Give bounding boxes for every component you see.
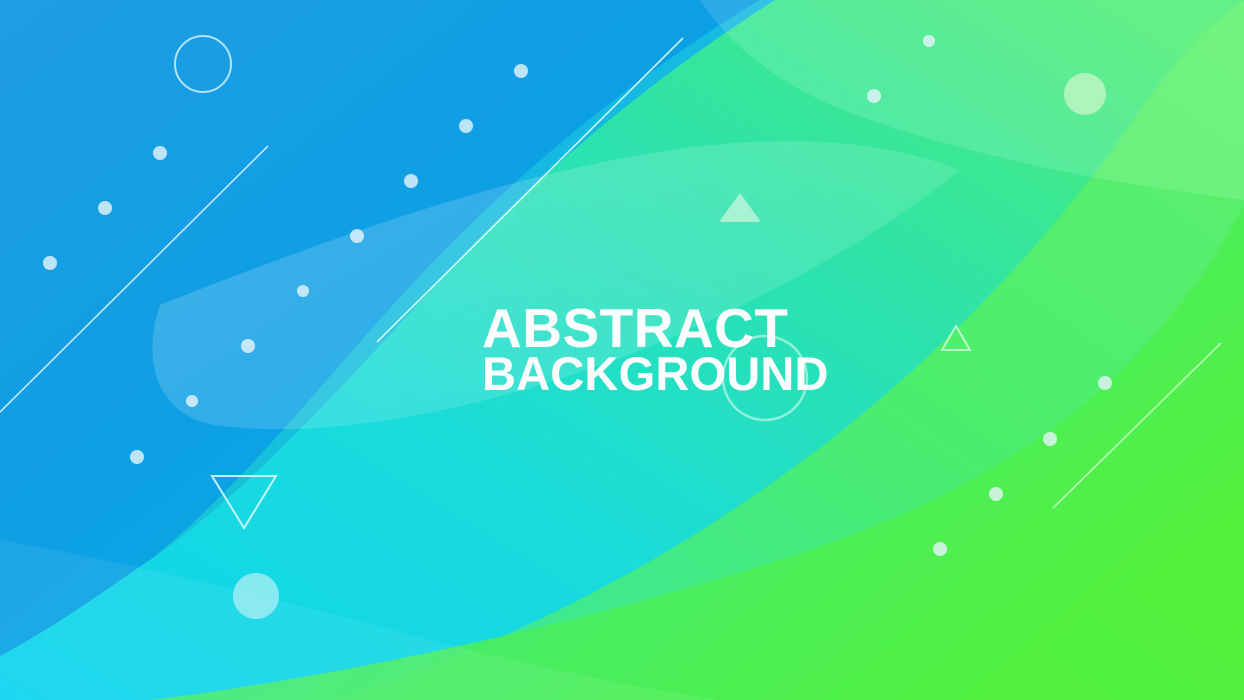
background-artwork: [0, 0, 1244, 700]
circle-filled-icon: [233, 573, 279, 619]
abstract-background-canvas: ABSTRACT BACKGROUND: [0, 0, 1244, 700]
dot: [1098, 376, 1112, 390]
dot: [350, 229, 364, 243]
dot: [933, 542, 947, 556]
dot: [404, 174, 418, 188]
dot: [867, 89, 881, 103]
dot: [514, 64, 528, 78]
dot: [153, 146, 167, 160]
dot: [186, 395, 198, 407]
dot: [923, 35, 935, 47]
dot: [1043, 432, 1057, 446]
dot: [130, 450, 144, 464]
dot: [297, 285, 309, 297]
dot: [98, 201, 112, 215]
circle-filled-icon: [1064, 73, 1106, 115]
dot: [459, 119, 473, 133]
dot: [989, 487, 1003, 501]
dot: [241, 339, 255, 353]
dot: [43, 256, 57, 270]
